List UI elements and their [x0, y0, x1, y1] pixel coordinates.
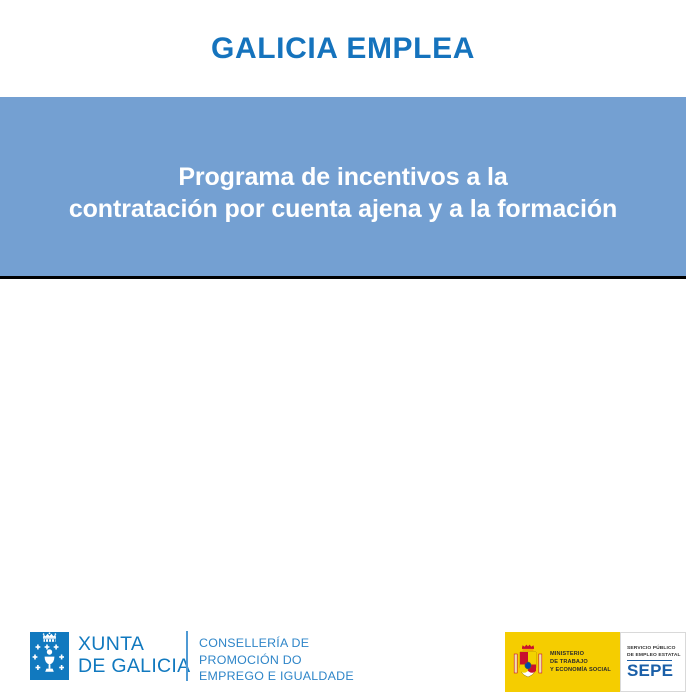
logo-divider — [186, 631, 188, 681]
ministerio-line-3: Y ECONOMÍA SOCIAL — [550, 666, 611, 674]
program-banner-line-2: contratación por cuenta ajena y a la for… — [23, 193, 663, 225]
sepe-subtitle-line-2: DE EMPLEO ESTATAL — [627, 652, 685, 659]
ministerio-wordmark: MINISTERIO DE TRABAJO Y ECONOMÍA SOCIAL — [550, 650, 611, 674]
conselleria-line-2: PROMOCIÓN DO — [199, 652, 354, 669]
xunta-word-line-2: DE GALICIA — [78, 656, 190, 678]
sepe-logo: SERVICIO PÚBLICO DE EMPLEO ESTATAL SEPE — [620, 632, 686, 692]
xunta-logo-wordmark: XUNTA DE GALICIA — [78, 634, 190, 678]
ministerio-de-trabajo-logo: MINISTERIO DE TRABAJO Y ECONOMÍA SOCIAL — [505, 632, 620, 692]
galicia-coat-of-arms-icon — [30, 632, 69, 680]
program-banner: Programa de incentivos a la contratación… — [0, 97, 686, 279]
conselleria-line-3: EMPREGO E IGUALDADE — [199, 668, 354, 685]
xunta-word-line-1: XUNTA — [78, 634, 190, 656]
footer-logo-bar: XUNTA DE GALICIA CONSELLERÍA DE PROMOCIÓ… — [0, 282, 686, 410]
sepe-subtitle: SERVICIO PÚBLICO DE EMPLEO ESTATAL — [627, 645, 685, 659]
xunta-de-galicia-logo: XUNTA DE GALICIA — [30, 632, 190, 680]
conselleria-wordmark: CONSELLERÍA DE PROMOCIÓN DO EMPREGO E IG… — [199, 635, 354, 685]
ministerio-line-2: DE TRABAJO — [550, 658, 611, 666]
ministerio-line-1: MINISTERIO — [550, 650, 611, 658]
title-area: GALICIA EMPLEA — [0, 0, 686, 97]
spain-coat-of-arms-icon — [512, 643, 544, 681]
page-title: GALICIA EMPLEA — [211, 34, 475, 64]
program-banner-text: Programa de incentivos a la contratación… — [23, 161, 663, 225]
sepe-rule — [627, 660, 672, 661]
sepe-subtitle-line-1: SERVICIO PÚBLICO — [627, 645, 685, 652]
conselleria-line-1: CONSELLERÍA DE — [199, 635, 354, 652]
sepe-acronym: SEPE — [627, 662, 685, 679]
program-banner-line-1: Programa de incentivos a la — [23, 161, 663, 193]
